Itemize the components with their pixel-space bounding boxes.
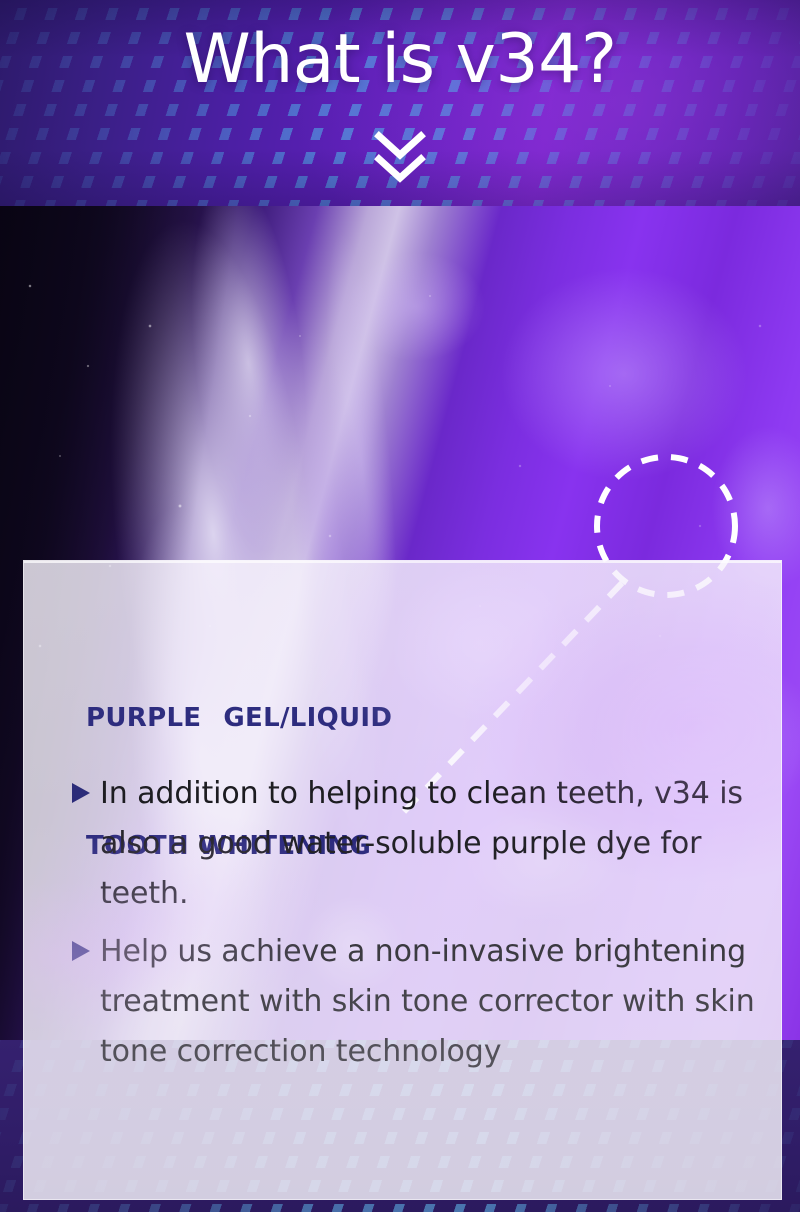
product-infographic-page: What is v34? <box>0 0 800 1212</box>
kicker-word-purple: PURPLE <box>86 703 201 733</box>
triangle-right-bullet-icon <box>70 769 96 805</box>
scroll-down-indicator[interactable] <box>0 128 800 190</box>
benefits-list: In addition to helping to clean teeth, v… <box>70 769 770 1086</box>
list-item: In addition to helping to clean teeth, v… <box>70 769 770 919</box>
info-card: PURPLEGEL/LIQUID TOOTH WHITENING In addi… <box>23 560 782 1200</box>
list-item: Help us achieve a non-invasive brighteni… <box>70 927 770 1077</box>
card-top-stripe <box>24 561 781 563</box>
card-kicker-line-1: PURPLEGEL/LIQUID <box>86 697 392 740</box>
header-banner: What is v34? <box>0 0 800 206</box>
kicker-word-gel-liquid: GEL/LIQUID <box>223 703 392 733</box>
page-title: What is v34? <box>0 24 800 95</box>
list-item-text: In addition to helping to clean teeth, v… <box>100 769 770 919</box>
chevron-double-down-icon <box>371 128 429 190</box>
triangle-right-bullet-icon <box>70 927 96 963</box>
list-item-text: Help us achieve a non-invasive brighteni… <box>100 927 770 1077</box>
